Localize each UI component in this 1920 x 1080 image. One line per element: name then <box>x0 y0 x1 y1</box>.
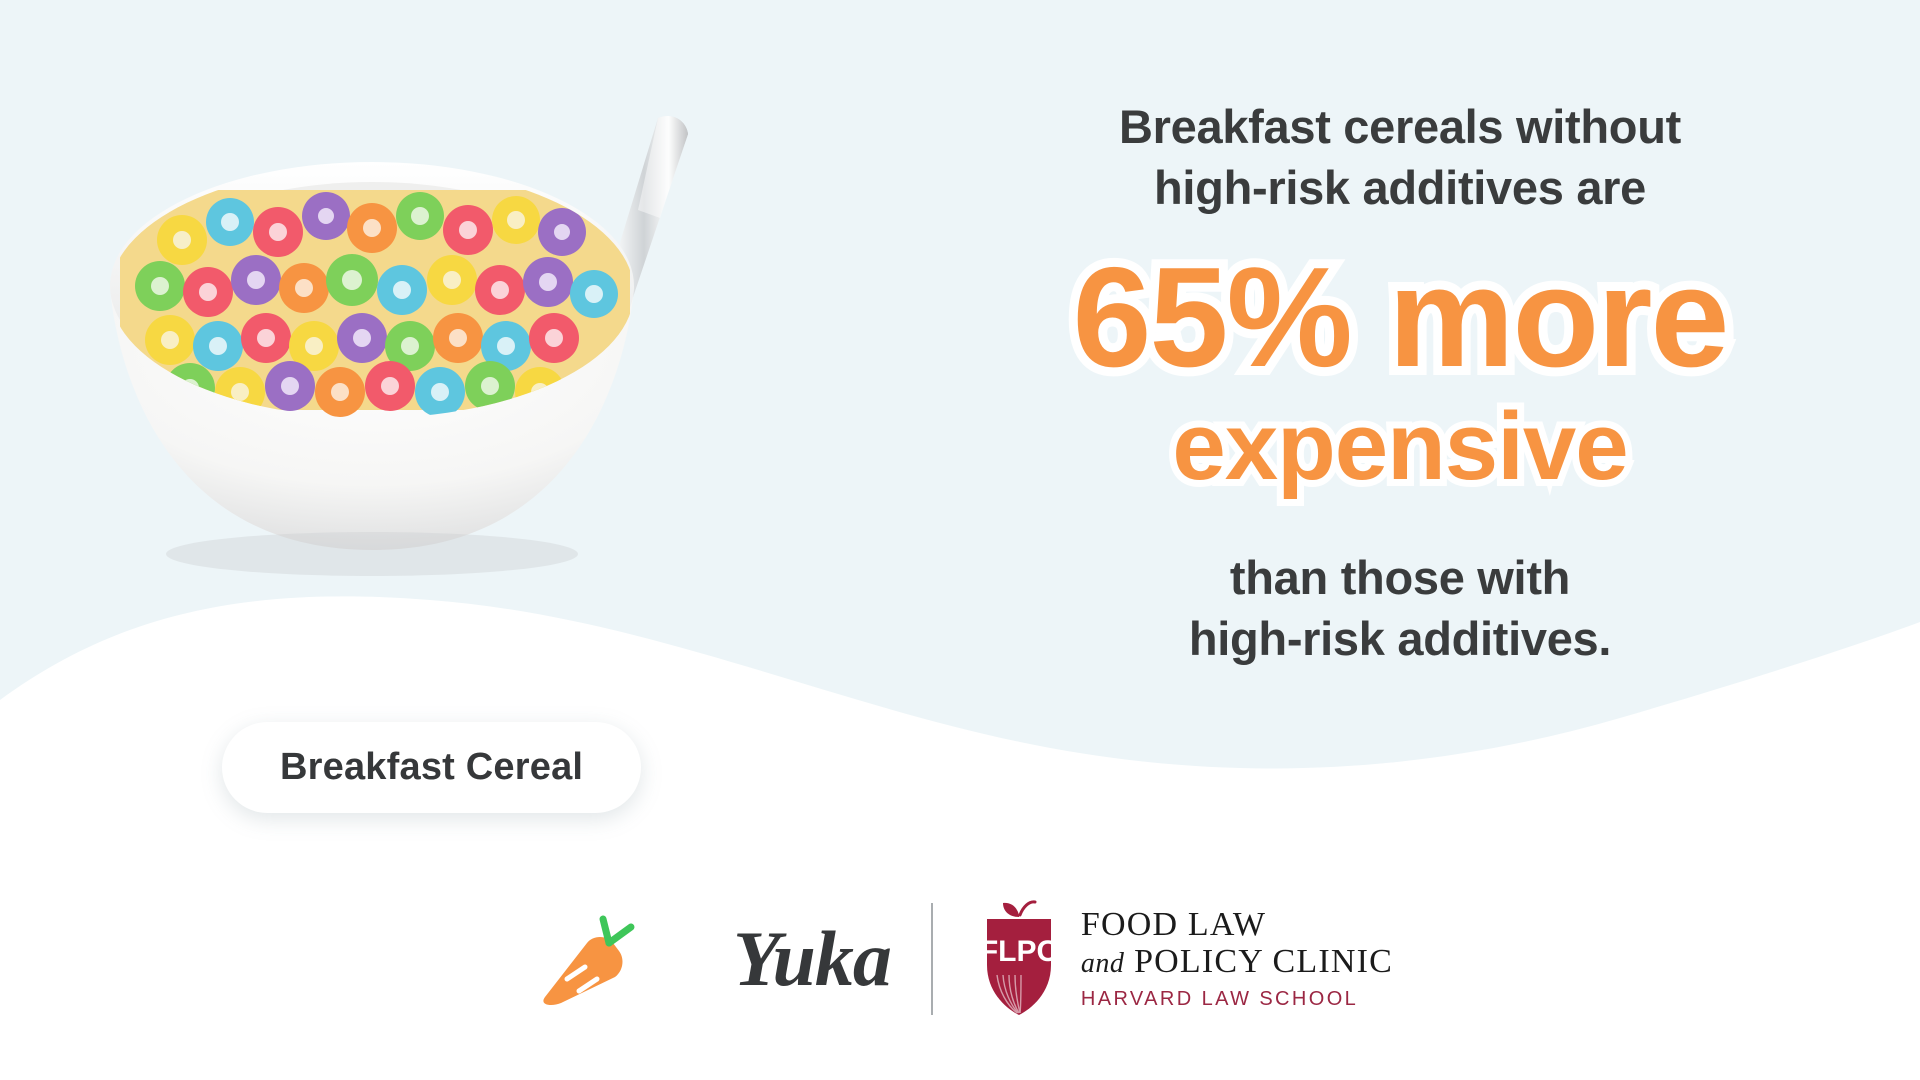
footer-logos: Yuka FLPC FOOD LAW <box>0 884 1920 1034</box>
flpc-line-1: FOOD LAW <box>1081 907 1393 944</box>
yuka-carrot-icon <box>527 913 737 1005</box>
subline-line-2: high-risk additives. <box>940 608 1860 669</box>
flpc-logo: FLPC FOOD LAW and POLICY CLINIC HARVARD … <box>973 899 1393 1019</box>
flpc-line-2: and POLICY CLINIC <box>1081 944 1393 981</box>
subline-line-1: than those with <box>940 547 1860 608</box>
stat-secondary: expensive <box>940 393 1860 501</box>
copy-block: Breakfast cereals without high-risk addi… <box>940 96 1860 669</box>
headline-line-1: Breakfast cereals without <box>940 96 1860 157</box>
flpc-line-3: HARVARD LAW SCHOOL <box>1081 988 1393 1011</box>
yuka-logo: Yuka <box>527 913 891 1005</box>
flpc-wordmark: FOOD LAW and POLICY CLINIC HARVARD LAW S… <box>1081 907 1393 1010</box>
subline: than those with high-risk additives. <box>940 547 1860 669</box>
flpc-and: and <box>1081 948 1125 979</box>
cereal-bowl-image <box>60 80 800 700</box>
flpc-apple-shield-icon: FLPC <box>973 899 1065 1019</box>
headline: Breakfast cereals without high-risk addi… <box>940 96 1860 218</box>
flpc-line-2-text: POLICY CLINIC <box>1134 943 1393 980</box>
logo-divider <box>931 903 933 1015</box>
stat-block: 65% more expensive <box>940 246 1860 500</box>
stat-primary: 65% more <box>940 246 1860 391</box>
product-label-pill: Breakfast Cereal <box>222 722 641 813</box>
headline-line-2: high-risk additives are <box>940 157 1860 218</box>
product-label-text: Breakfast Cereal <box>280 746 583 789</box>
yuka-wordmark: Yuka <box>733 914 891 1004</box>
infographic-canvas: Breakfast Cereal Breakfast cereals witho… <box>0 0 1920 1080</box>
flpc-badge-text: FLPC <box>980 935 1058 968</box>
